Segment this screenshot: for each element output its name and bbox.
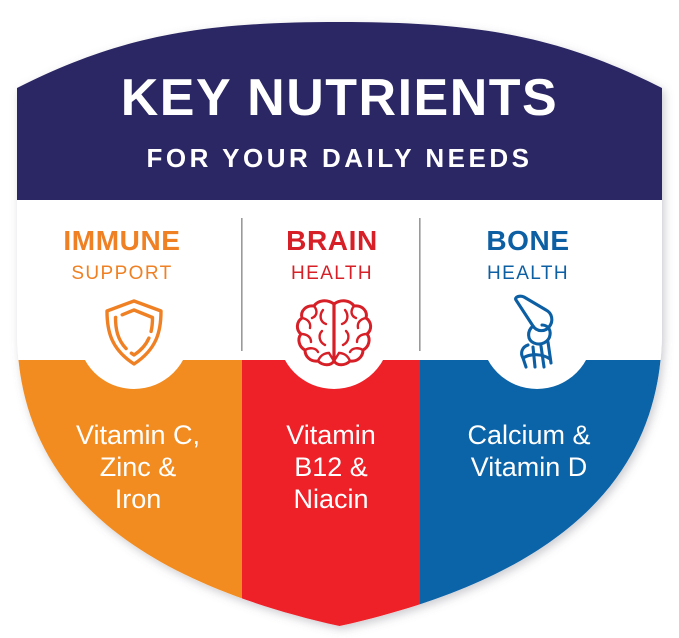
panel-bone — [420, 360, 679, 638]
icon-notch-immune — [78, 277, 190, 389]
shield-graphic — [0, 0, 679, 638]
panel-immune — [0, 360, 242, 638]
shield-body — [0, 0, 679, 638]
divider-left — [241, 218, 243, 351]
key-nutrients-infographic: KEY NUTRIENTS FOR YOUR DAILY NEEDS IMMUN… — [0, 0, 679, 638]
divider-right — [419, 218, 421, 351]
icon-notch-bone — [481, 277, 593, 389]
panel-brain — [242, 360, 420, 638]
header-band — [0, 0, 679, 200]
